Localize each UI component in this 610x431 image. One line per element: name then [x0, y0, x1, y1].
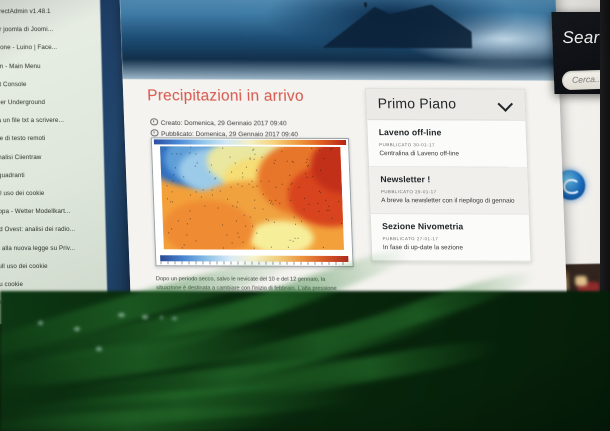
map-coastline-dot: [211, 165, 212, 166]
map-coastline-dot: [290, 200, 291, 201]
map-coastline-dot: [294, 217, 295, 218]
item-published: PUBBLICATO 27-01-17: [383, 236, 519, 241]
map-coastline-dot: [292, 182, 293, 183]
item-title: Sezione Nivometria: [382, 221, 518, 231]
bookmark-item[interactable]: u file di testo remoti: [0, 135, 45, 142]
map-coastline-dot: [171, 201, 172, 202]
map-coastline-dot: [329, 210, 330, 211]
map-coastline-dot: [325, 200, 326, 201]
chevron-down-icon[interactable]: [497, 96, 513, 112]
map-coastline-dot: [320, 170, 321, 171]
dew-drop: [74, 327, 80, 331]
map-coastline-dot: [204, 205, 205, 206]
dew-drop: [96, 347, 102, 351]
map-coastline-dot: [252, 225, 253, 226]
map-coastline-dot: [288, 246, 289, 247]
map-coastline-dot: [306, 158, 307, 159]
map-coastline-dot: [289, 175, 290, 176]
map-coastline-dot: [234, 163, 235, 164]
map-coastline-dot: [249, 157, 250, 158]
weather-map-figure[interactable]: [151, 137, 354, 267]
map-coastline-dot: [190, 153, 191, 154]
map-coastline-dot: [209, 171, 210, 172]
map-coastline-dot: [275, 200, 276, 201]
map-coastline-dot: [290, 184, 291, 185]
map-coastline-dot: [218, 207, 219, 208]
map-coastline-dot: [166, 186, 167, 187]
map-coastline-dot: [220, 191, 221, 192]
map-coastline-dot: [222, 147, 223, 148]
map-coastline-dot: [318, 191, 319, 192]
map-coastline-dot: [256, 233, 257, 234]
map-coastline-dot: [254, 248, 255, 249]
map-coastline-dot: [201, 197, 202, 198]
bookmark-item[interactable]: sull uso dei cookie: [0, 263, 48, 270]
map-coastline-dot: [172, 201, 173, 202]
map-coastline-dot: [224, 249, 225, 250]
map-coastline-dot: [244, 215, 245, 216]
bookmark-item[interactable]: ord Ovest: analisi dei radio...: [0, 226, 75, 233]
bookmark-item[interactable]: eather Underground: [0, 99, 45, 106]
map-coastline-dot: [173, 181, 174, 182]
map-coastline-dot: [172, 191, 173, 192]
map-coastline-dot: [331, 149, 332, 150]
map-coastline-dot: [339, 200, 340, 201]
map-coastline-dot: [180, 153, 181, 154]
bookmark-item[interactable]: zzazione - Luino | Face...: [0, 44, 57, 51]
map-coastline-dot: [332, 218, 333, 219]
bookmark-item[interactable]: sull uso dei cookie: [0, 190, 45, 197]
item-published: PUBBLICATO 29-01-17: [381, 189, 517, 194]
map-coastline-dot: [312, 176, 313, 177]
map-coastline-dot: [304, 198, 305, 199]
map-coastline-dot: [195, 166, 196, 167]
map-coastline-dot: [238, 232, 239, 233]
map-coastline-dot: [237, 201, 238, 202]
dew-drop: [160, 316, 163, 319]
map-coastline-dot: [241, 186, 242, 187]
map-coastline-dot: [320, 192, 321, 193]
map-coastline-dot: [190, 211, 191, 212]
map-coastline-dot: [242, 177, 243, 178]
map-coastline-dot: [186, 235, 187, 236]
map-coastline-dot: [263, 209, 264, 210]
map-coastline-dot: [196, 153, 197, 154]
map-coastline-dot: [236, 221, 237, 222]
map-coastline-dot: [190, 195, 191, 196]
map-coastline-dot: [212, 195, 213, 196]
map-coastline-dot: [323, 247, 324, 248]
map-coastline-dot: [271, 247, 272, 248]
map-coastline-dot: [254, 208, 255, 209]
map-coastline-dot: [257, 186, 258, 187]
map-coastline-dot: [294, 237, 295, 238]
map-coastline-dot: [177, 154, 178, 155]
bookmark-item[interactable]: in quadranti: [0, 172, 25, 179]
item-title: Newsletter !: [380, 174, 516, 184]
foreground-grass: [0, 291, 610, 431]
map-coastline-dot: [196, 192, 197, 193]
map-coastline-dot: [237, 184, 238, 185]
map-coastline-dot: [175, 167, 176, 168]
map-coastline-dot: [168, 232, 169, 233]
map-coastline-dot: [202, 189, 203, 190]
map-coastline-dot: [305, 173, 306, 174]
map-coastline-dot: [274, 163, 275, 164]
item-summary: Centralina di Laveno off-line: [379, 150, 515, 158]
map-coastline-dot: [290, 239, 291, 240]
map-coastline-dot: [167, 198, 168, 199]
bookmark-item[interactable]: uropa - Wetter Modellkart...: [0, 208, 71, 215]
map-coastline-dot: [214, 179, 215, 180]
map-coastline-dot: [222, 224, 223, 225]
map-coastline-dot: [332, 148, 333, 149]
map-coastline-dot: [190, 219, 191, 220]
map-coastline-dot: [251, 181, 252, 182]
map-coastline-dot: [197, 163, 198, 164]
map-coastline-dot: [299, 187, 300, 188]
map-coastline-dot: [236, 206, 237, 207]
map-coastline-dot: [178, 220, 179, 221]
banner-mountain-shape: [321, 4, 473, 48]
primo-piano-item[interactable]: Newsletter !PUBBLICATO 29-01-17A breve l…: [369, 167, 529, 215]
bookmark-item[interactable]: it - DirectAdmin v1.48.1: [0, 8, 51, 15]
map-coastline-dot: [305, 162, 306, 163]
map-coastline-dot: [273, 222, 274, 223]
map-coastline-dot: [274, 159, 275, 160]
dew-drop: [142, 315, 148, 319]
map-coastline-dot: [253, 187, 254, 188]
map-coastline-dot: [308, 204, 309, 205]
map-coastline-dot: [250, 159, 251, 160]
map-coastline-dot: [288, 189, 289, 190]
map-coastline-dot: [307, 177, 308, 178]
clock-icon: [150, 129, 158, 137]
bookmark-item[interactable]: rg alla nuova legge su Priv...: [0, 244, 75, 251]
map-coastline-dot: [232, 205, 233, 206]
map-coastline-dot: [281, 184, 282, 185]
map-coastline-dot: [323, 158, 324, 159]
map-coastline-dot: [246, 167, 247, 168]
item-summary: A breve la newsletter con il riepilogo d…: [381, 197, 517, 205]
map-coastline-dot: [253, 149, 254, 150]
primo-piano-card: Primo Piano Laveno off-linePUBBLICATO 30…: [365, 88, 532, 262]
map-coastline-dot: [229, 156, 230, 157]
item-published: PUBBLICATO 30-01-17: [379, 142, 515, 147]
map-coastline-dot: [292, 161, 293, 162]
map-coastline-dot: [312, 148, 313, 149]
primo-piano-item[interactable]: Laveno off-linePUBBLICATO 30-01-17Centra…: [367, 120, 527, 168]
map-coastline-dot: [304, 209, 305, 210]
dew-drop: [172, 317, 177, 320]
map-coastline-dot: [319, 150, 320, 151]
map-coastline-dot: [341, 223, 342, 224]
site-banner-photo: [119, 0, 559, 81]
map-coastline-dot: [187, 224, 188, 225]
map-colorbar-top: [154, 139, 346, 145]
map-coastline-dot: [262, 194, 263, 195]
map-coastline-dot: [227, 198, 228, 199]
map-coastline-dot: [261, 156, 262, 157]
search-overlay-title: Sear: [562, 28, 600, 48]
bookmark-item[interactable]: su cookie: [0, 281, 23, 288]
map-coastline-dot: [343, 226, 344, 227]
map-coastline-dot: [227, 234, 228, 235]
map-coastline-dot: [297, 238, 298, 239]
dew-drop: [118, 313, 125, 317]
map-coastline-dot: [196, 240, 197, 241]
map-coastline-dot: [212, 190, 213, 191]
map-coastline-dot: [231, 186, 232, 187]
map-coastline-dot: [261, 181, 262, 182]
map-coastline-dot: [254, 153, 255, 154]
map-coastline-dot: [165, 149, 166, 150]
article-created-meta: Creato: Domenica, 29 Gennaio 2017 09:40: [150, 117, 287, 127]
bookmark-item[interactable]: - Analisi Ciientraw: [0, 154, 42, 161]
map-coastline-dot: [287, 161, 288, 162]
bookmark-item[interactable]: ment Console: [0, 81, 27, 88]
map-coastline-dot: [268, 220, 269, 221]
photo-region: [575, 276, 588, 286]
map-coastline-dot: [272, 203, 273, 204]
map-coastline-dot: [250, 217, 251, 218]
map-coastline-dot: [317, 202, 318, 203]
map-coastline-dot: [292, 241, 293, 242]
map-coastline-dot: [242, 173, 243, 174]
map-coastline-dot: [327, 210, 328, 211]
map-coastline-dot: [239, 237, 240, 238]
map-coastline-dot: [190, 146, 191, 147]
map-coastline-dot: [256, 169, 257, 170]
map-coastline-dot: [171, 154, 172, 155]
primo-piano-title: Primo Piano: [377, 95, 456, 111]
map-coastline-dot: [243, 242, 244, 243]
map-coastline-dot: [173, 174, 174, 175]
map-coastline-dot: [172, 228, 173, 229]
map-coastline-dot: [328, 206, 329, 207]
article-title: Precipitazioni in arrivo: [147, 87, 304, 106]
map-coastline-dot: [266, 219, 267, 220]
banner-figure-dot: [364, 2, 367, 7]
map-coastline-dot: [245, 226, 246, 227]
browser-bookmarks-sidebar[interactable]: it - DirectAdmin v1.48.1rg per joomla di…: [0, 0, 117, 324]
map-coastline-dot: [307, 166, 308, 167]
map-coastline-dot: [254, 200, 255, 201]
map-coastline-dot: [276, 186, 277, 187]
map-coastline-dot: [292, 162, 293, 163]
bookmark-item[interactable]: ystem - Main Menu: [0, 63, 41, 70]
map-coastline-dot: [182, 248, 183, 249]
map-coastline-dot: [307, 165, 308, 166]
map-plot-area: [160, 146, 344, 250]
map-coastline-dot: [282, 151, 283, 152]
search-input-placeholder: Cerca...: [572, 74, 602, 85]
map-coastline-dot: [269, 200, 270, 201]
item-title: Laveno off-line: [379, 127, 515, 137]
map-coastline-dot: [249, 183, 250, 184]
map-coastline-dot: [279, 203, 280, 204]
map-coastline-dot: [254, 159, 255, 160]
dew-drop: [38, 321, 43, 325]
map-coastline-dot: [231, 171, 232, 172]
bookmark-item[interactable]: rg per joomla di Joomi...: [0, 26, 53, 33]
clock-icon: [150, 118, 158, 126]
bookmark-item[interactable]: d da un file txt a scrivere...: [0, 117, 64, 124]
map-coastline-dot: [271, 201, 272, 202]
map-coastline-dot: [232, 242, 233, 243]
map-coastline-dot: [216, 178, 217, 179]
map-coastline-dot: [295, 224, 296, 225]
primo-piano-header[interactable]: Primo Piano: [366, 89, 525, 121]
map-coastline-dot: [184, 244, 185, 245]
map-coastline-dot: [183, 176, 184, 177]
map-coastline-dot: [268, 181, 269, 182]
map-coastline-dot: [301, 221, 302, 222]
map-coastline-dot: [222, 247, 223, 248]
map-coastline-dot: [318, 211, 319, 212]
monitor-photo: it - DirectAdmin v1.48.1rg per joomla di…: [0, 0, 610, 431]
